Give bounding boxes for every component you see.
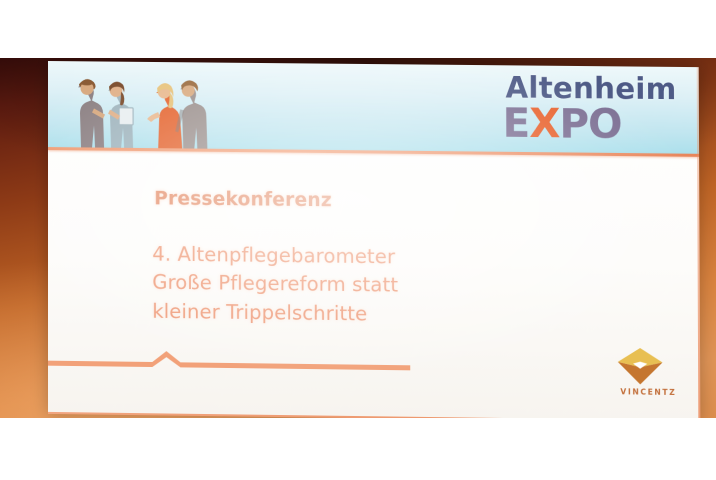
slide-body: Pressekonferenz 4. Altenpflegebarometer … [152,188,596,331]
vincentz-diamond-icon [617,347,664,386]
slide-right-border [697,67,701,418]
slide-headline: 4. Altenpflegebarometer Große Pflegerefo… [152,240,596,331]
slide-header-band: Altenheim EXPO [48,61,699,154]
slide-surface: Altenheim EXPO Pressekonferenz 4. Altenp… [48,61,700,418]
slide-bottom-border [48,411,700,418]
headline-line-3: kleiner Trippelschritte [152,298,596,332]
business-people-illustration [64,67,224,149]
logo-expo-e: E [503,100,530,147]
logo-expo-x: X [529,101,559,148]
photo-white-border: Altenheim EXPO Pressekonferenz 4. Altenp… [0,0,716,480]
vincentz-wordmark: VINCENTZ [617,387,680,397]
projected-slide: Altenheim EXPO Pressekonferenz 4. Altenp… [48,61,700,418]
logo-altenheim-text: Altenheim [505,73,676,104]
vincentz-logo: VINCENTZ [617,347,680,397]
logo-expo-po: PO [559,101,621,148]
logo-expo-text: EXPO [503,103,622,144]
conference-room-photo: Altenheim EXPO Pressekonferenz 4. Altenp… [0,58,716,418]
chevron-peak-rule [48,348,410,375]
slide-kicker: Pressekonferenz [154,188,596,214]
altenheim-expo-logo: Altenheim EXPO [502,73,676,145]
